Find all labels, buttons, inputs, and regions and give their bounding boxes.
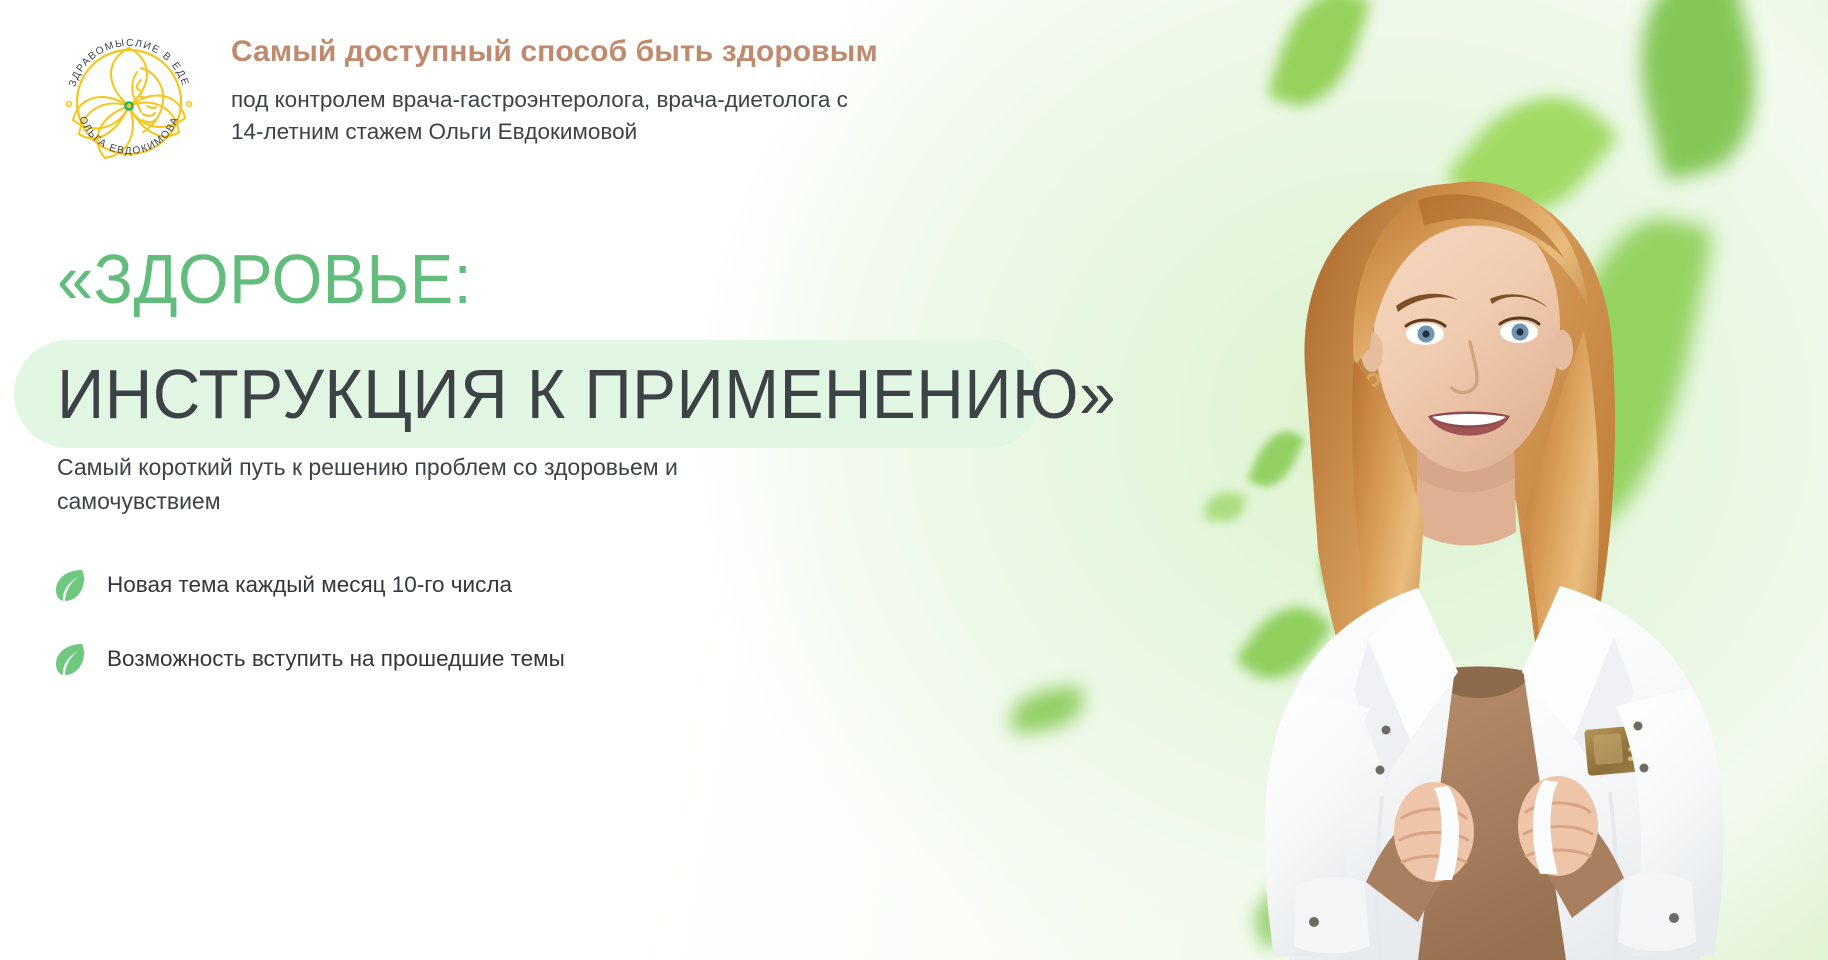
logo-ring-top-text: ЗДРАВОМЫСЛИЕ В ЕДЕ — [67, 38, 190, 88]
leaf-decor-11 — [1243, 866, 1344, 950]
header-subtitle-line-2: 14-летним стажем Ольги Евдокимовой — [231, 119, 637, 144]
feature-list: Новая тема каждый месяц 10-го числа Возм… — [55, 568, 565, 676]
header-subtitle-line-1: под контролем врача-гастроэнтеролога, вр… — [231, 87, 848, 112]
logo-ring-bottom-text: ОЛЬГА ЕВДОКИМОВА — [77, 115, 182, 157]
leaf-decor-3 — [1444, 66, 1621, 247]
feature-label: Возможность вступить на прошедшие темы — [107, 644, 565, 673]
hero-banner: ЗДРАВОМЫСЛИЕ В ЕДЕ ОЛЬГА ЕВДОКИМОВА Самы… — [0, 0, 1828, 960]
brand-header: ЗДРАВОМЫСЛИЕ В ЕДЕ ОЛЬГА ЕВДОКИМОВА Самы… — [55, 28, 878, 176]
hero-lead-paragraph: Самый короткий путь к решению проблем со… — [57, 450, 797, 518]
feature-item: Новая тема каждый месяц 10-го числа — [55, 568, 565, 602]
header-title: Самый доступный способ быть здоровым — [231, 34, 878, 70]
leaf-icon — [55, 642, 85, 676]
leaf-decor-7 — [1312, 538, 1361, 600]
leaf-decor-8 — [1234, 591, 1333, 696]
leaf-decor-5 — [1304, 343, 1372, 417]
lead-line-1: Самый короткий путь к решению проблем со… — [57, 454, 678, 480]
headline-line-1: «ЗДОРОВЬЕ: — [57, 244, 1027, 314]
leaf-decor-1 — [1267, 0, 1372, 118]
leaf-icon — [55, 568, 85, 602]
headline-pill: ИНСТРУКЦИЯ К ПРИМЕНЕНИЮ» — [14, 340, 1042, 448]
svg-text:ОЛЬГА ЕВДОКИМОВА: ОЛЬГА ЕВДОКИМОВА — [77, 115, 182, 157]
header-text-block: Самый доступный способ быть здоровым под… — [231, 28, 878, 148]
hero-headline-block: «ЗДОРОВЬЕ: ИНСТРУКЦИЯ К ПРИМЕНЕНИЮ» — [0, 244, 1100, 448]
leaf-decor-10 — [1008, 685, 1087, 735]
headline-line-2: ИНСТРУКЦИЯ К ПРИМЕНЕНИЮ» — [57, 359, 1116, 429]
header-subtitle: под контролем врача-гастроэнтеролога, вр… — [231, 84, 878, 148]
leaf-decor-4 — [1521, 202, 1715, 551]
svg-text:ЗДРАВОМЫСЛИЕ В ЕДЕ: ЗДРАВОМЫСЛИЕ В ЕДЕ — [67, 38, 190, 88]
leaf-decor-9 — [1204, 490, 1246, 525]
feature-label: Новая тема каждый месяц 10-го числа — [107, 570, 512, 599]
leaf-decor-2 — [1618, 0, 1778, 181]
lead-line-2: самочувствием — [57, 488, 221, 514]
circular-flower-profile-emblem-icon: ЗДРАВОМЫСЛИЕ В ЕДЕ ОЛЬГА ЕВДОКИМОВА — [55, 28, 203, 176]
leaf-decor-6 — [1247, 423, 1305, 494]
brand-logo[interactable]: ЗДРАВОМЫСЛИЕ В ЕДЕ ОЛЬГА ЕВДОКИМОВА — [55, 28, 203, 176]
doctor-photo — [1118, 80, 1828, 960]
feature-item: Возможность вступить на прошедшие темы — [55, 642, 565, 676]
